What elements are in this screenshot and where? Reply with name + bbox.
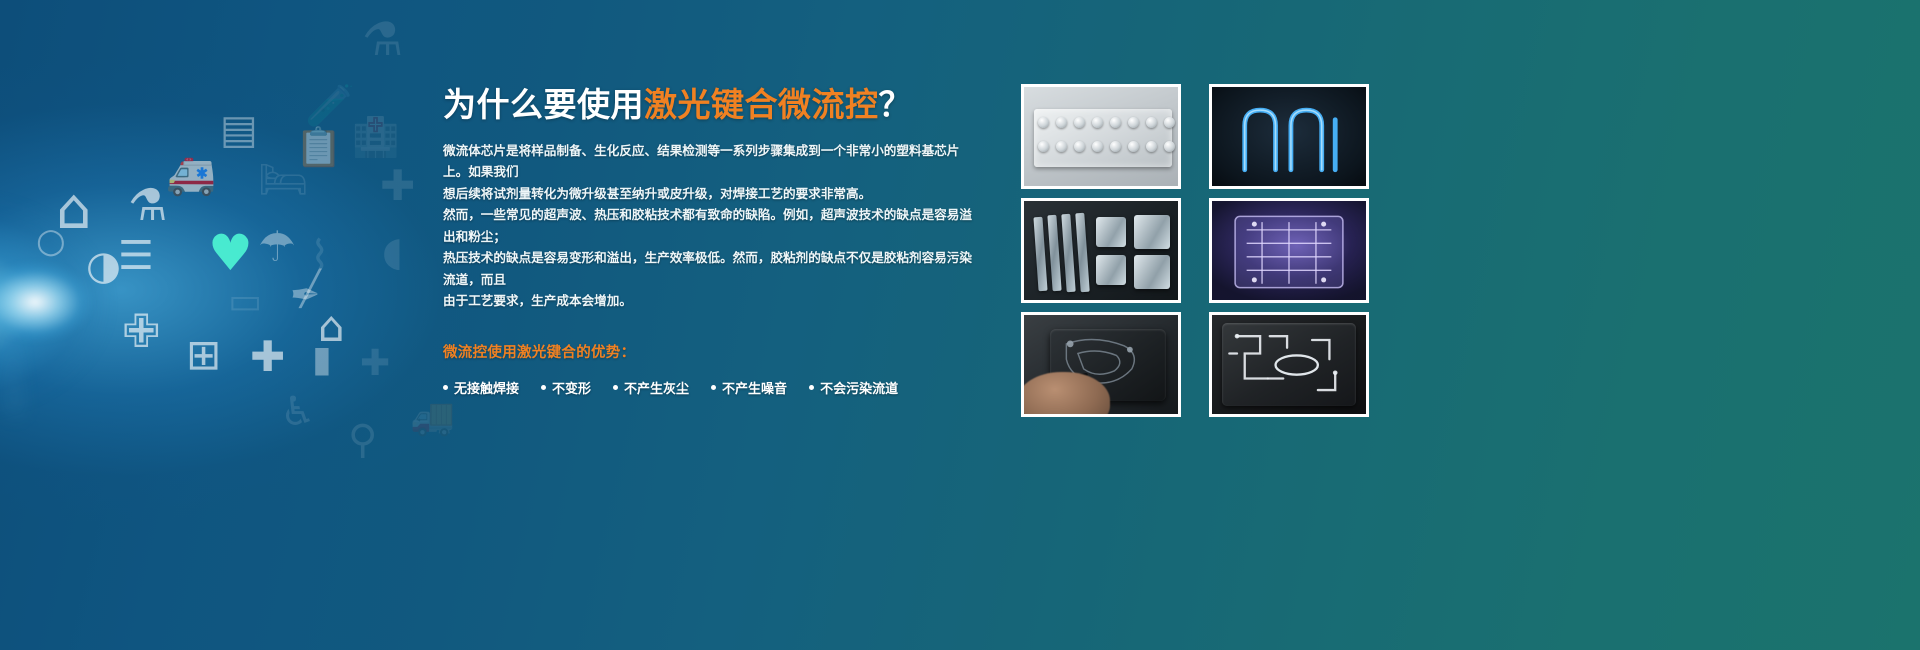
kidney-icon: ◖ [382, 232, 403, 272]
list-item-label: 无接触焊接 [454, 378, 519, 397]
home-plus-icon: ⌂ [56, 182, 92, 238]
syringe-icon: ✒ [290, 278, 320, 314]
light-beam-fan [10, 195, 340, 415]
product-photo-gallery [1021, 84, 1369, 417]
truck-icon: 🚚 [410, 400, 455, 436]
headline-highlight: 激光键合微流控 [644, 86, 879, 123]
test-tube-icon: 🧪 [305, 86, 355, 126]
gallery-photo-microfluidic-chip-black-channels [1209, 312, 1369, 417]
plus-cross-icon: ✚ [380, 165, 415, 207]
medical-cross-icon: ✙ [122, 308, 161, 354]
bullet-dot-icon [711, 385, 716, 390]
bullet-dot-icon [541, 385, 546, 390]
headline-prefix: 为什么要使用 [443, 86, 644, 123]
advantages-subheading: 微流控使用激光键合的优势： [443, 341, 983, 362]
flask-liquid-icon: ⚗ [128, 184, 167, 228]
hospital-icon: 🏥 [352, 118, 399, 156]
promo-banner: ⚗🧪▤📋🏥🚑🛏✚⌂⚗○◑☰♥☂⌇◖✒▭✙⌂⊞✚▮✚♿🚚⚲╱ 为什么要使用激光键合… [0, 0, 1920, 650]
headline-suffix: ？ [879, 86, 913, 123]
bullet-dot-icon [613, 385, 618, 390]
gallery-photo-microfluidic-chip-clear-strips [1021, 198, 1181, 303]
paragraph-line: 想后续将试剂量转化为微升级甚至纳升或皮升级，对焊接工艺的要求非常高。 [443, 184, 973, 206]
list-item: 无接触焊接 [443, 378, 519, 397]
heart-pulse-icon: ♥ [208, 228, 253, 278]
light-beam-core [0, 252, 110, 352]
list-item-label: 不产生噪音 [722, 378, 787, 397]
gallery-photo-microfluidic-chip-black-handheld [1021, 312, 1181, 417]
gallery-photo-microfluidic-chip-wells-array [1021, 84, 1181, 189]
pill-bottle-icon: ▭ [228, 284, 262, 320]
microscope-icon: ⚲ [348, 420, 377, 460]
plus-small-icon: ✚ [360, 346, 390, 382]
gallery-photo-microfluidic-chip-serpentine-channel [1209, 84, 1369, 189]
bullet-dot-icon [809, 385, 814, 390]
hospital-plus-icon: ✚ [250, 336, 285, 378]
list-item-label: 不会污染流道 [820, 378, 898, 397]
hospital-bed-icon: 🛏 [258, 160, 309, 200]
list-item: 不会污染流道 [809, 378, 898, 397]
wheelchair-icon: ♿ [280, 392, 316, 432]
clipboard-icon: 📋 [295, 128, 342, 166]
list-item-label: 不产生灰尘 [624, 378, 689, 397]
home-care-icon: ⌂ [318, 306, 345, 348]
list-item: 不产生噪音 [711, 378, 787, 397]
paragraph-line: 微流体芯片是将样品制备、生化反应、结果检测等一系列步骤集成到一个非常小的塑料基芯… [443, 141, 973, 184]
gallery-photo-microfluidic-chip-purple-lit [1209, 198, 1369, 303]
paragraph-line: 热压技术的缺点是容易变形和溢出，生产效率极低。然而，胶粘剂的缺点不仅是胶粘剂容易… [443, 248, 973, 291]
first-aid-kit-icon: ⊞ [186, 334, 221, 376]
bandage-icon: ╱ [300, 272, 320, 306]
advantages-list: 无接触焊接 不变形 不产生灰尘 不产生噪音 不会污染流道 [443, 378, 983, 397]
ecg-line-icon: ⌇ [310, 236, 330, 276]
list-item-label: 不变形 [552, 378, 591, 397]
battery-icon: ▮ [312, 342, 332, 378]
capsule-pill-icon: ◑ [86, 246, 121, 286]
id-card-icon: ▤ [220, 110, 258, 150]
paragraph-line: 然而，一些常见的超声波、热压和胶粘技术都有致命的缺陷。例如，超声波技术的缺点是容… [443, 205, 973, 248]
list-item: 不产生灰尘 [613, 378, 689, 397]
list-item: 不变形 [541, 378, 591, 397]
banner-content: 为什么要使用激光键合微流控？ 微流体芯片是将样品制备、生化反应、结果检测等一系列… [443, 86, 983, 397]
vials-rack-icon: ☰ [118, 236, 154, 276]
paragraph-line: 由于工艺要求，生产成本会增加。 [443, 291, 973, 313]
stethoscope-icon: ☂ [258, 226, 296, 268]
page-title: 为什么要使用激光键合微流控？ [443, 86, 983, 125]
flask-icon: ⚗ [362, 16, 403, 62]
description-paragraph: 微流体芯片是将样品制备、生化反应、结果检测等一系列步骤集成到一个非常小的塑料基芯… [443, 141, 973, 313]
ambulance-icon: 🚑 [166, 155, 216, 195]
tooth-icon: ○ [36, 224, 66, 258]
light-beam-glow [0, 150, 330, 460]
bullet-dot-icon [443, 385, 448, 390]
